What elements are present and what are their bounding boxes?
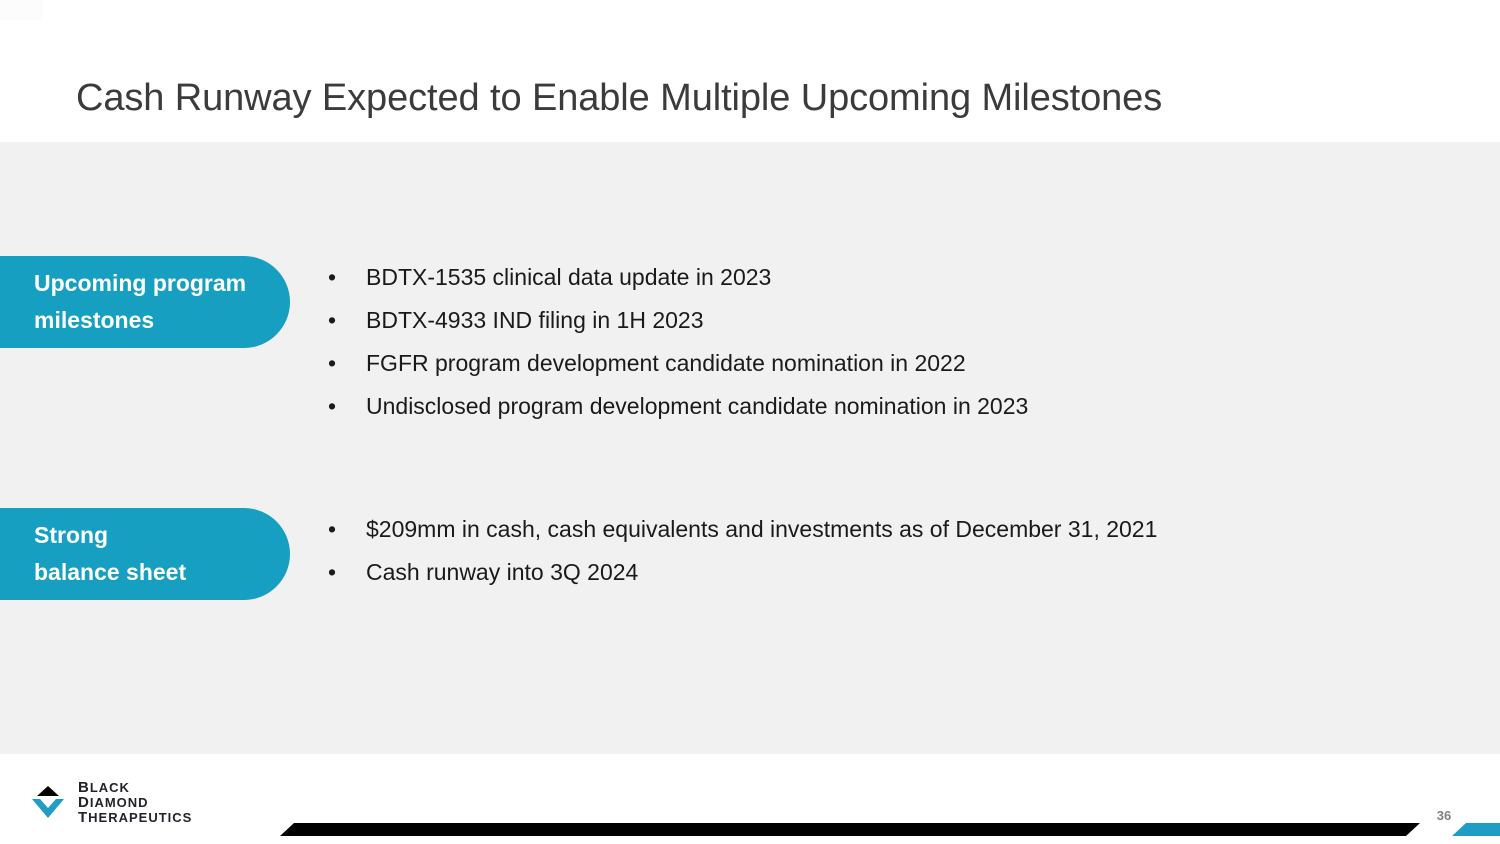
bullet-dot-icon: • [328,385,336,428]
logo-wordmark: BLACK DIAMOND THERAPEUTICS [78,780,192,825]
logo-wordmark-line: BLACK [78,780,192,795]
logo-rest: IAMOND [90,795,149,810]
bullet-list: • BDTX-1535 clinical data update in 2023… [322,256,1422,428]
bullet-dot-icon: • [328,299,336,342]
company-logo: BLACK DIAMOND THERAPEUTICS [24,778,192,826]
page-title: Cash Runway Expected to Enable Multiple … [76,72,1162,124]
pill-label-line: Upcoming program [34,265,256,302]
list-item-text: Cash runway into 3Q 2024 [366,559,638,585]
diamond-logo-icon [24,778,72,826]
bullet-dot-icon: • [328,256,336,299]
bullet-dot-icon: • [328,551,336,594]
corner-swatch [0,0,42,20]
logo-cap: T [78,809,88,826]
bullet-dot-icon: • [328,342,336,385]
section-label-pill: Upcoming program milestones [0,256,290,348]
bullet-dot-icon: • [328,508,336,551]
logo-wordmark-line: THERAPEUTICS [78,810,192,825]
logo-rest: LACK [90,780,130,795]
list-item: • $209mm in cash, cash equivalents and i… [322,508,1422,551]
list-item-text: FGFR program development candidate nomin… [366,350,966,376]
footer-accent-bar-teal [1452,823,1500,836]
list-item-text: BDTX-4933 IND filing in 1H 2023 [366,307,704,333]
footer-accent-bar-black [280,823,1420,836]
section-label-pill: Strong balance sheet [0,508,290,600]
list-item: • Cash runway into 3Q 2024 [322,551,1422,594]
list-item: • Undisclosed program development candid… [322,385,1422,428]
list-item-text: Undisclosed program development candidat… [366,393,1028,419]
page-number: 36 [1424,808,1464,823]
slide: Cash Runway Expected to Enable Multiple … [0,0,1500,844]
list-item-text: $209mm in cash, cash equivalents and inv… [366,516,1157,542]
pill-label-line: milestones [34,302,256,339]
list-item: • BDTX-1535 clinical data update in 2023 [322,256,1422,299]
content-panel [0,142,1500,754]
logo-rest: HERAPEUTICS [88,810,192,825]
logo-wordmark-line: DIAMOND [78,795,192,810]
list-item: • BDTX-4933 IND filing in 1H 2023 [322,299,1422,342]
bullet-list: • $209mm in cash, cash equivalents and i… [322,508,1422,594]
pill-label-line: Strong [34,517,256,554]
list-item-text: BDTX-1535 clinical data update in 2023 [366,264,771,290]
list-item: • FGFR program development candidate nom… [322,342,1422,385]
pill-label-line: balance sheet [34,554,256,591]
